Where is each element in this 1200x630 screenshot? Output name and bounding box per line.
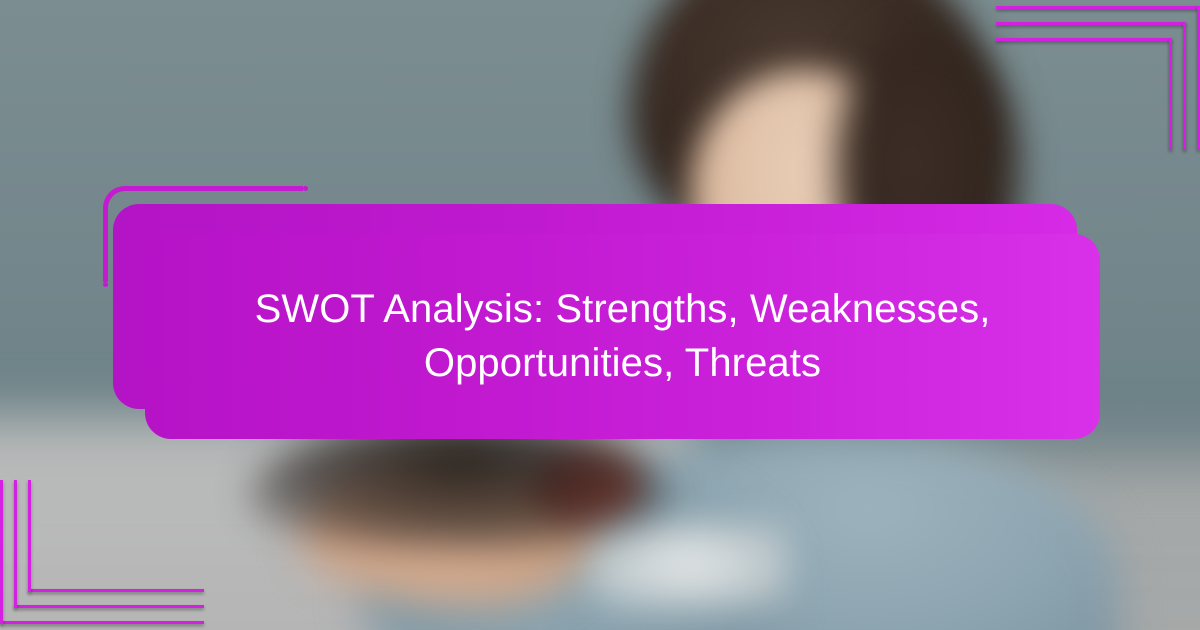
share-card-canvas: SWOT Analysis: Strengths, Weaknesses, Op…: [0, 0, 1200, 630]
background-paper: [590, 520, 790, 610]
page-title: SWOT Analysis: Strengths, Weaknesses, Op…: [183, 283, 1063, 389]
title-card: SWOT Analysis: Strengths, Weaknesses, Op…: [145, 234, 1100, 439]
